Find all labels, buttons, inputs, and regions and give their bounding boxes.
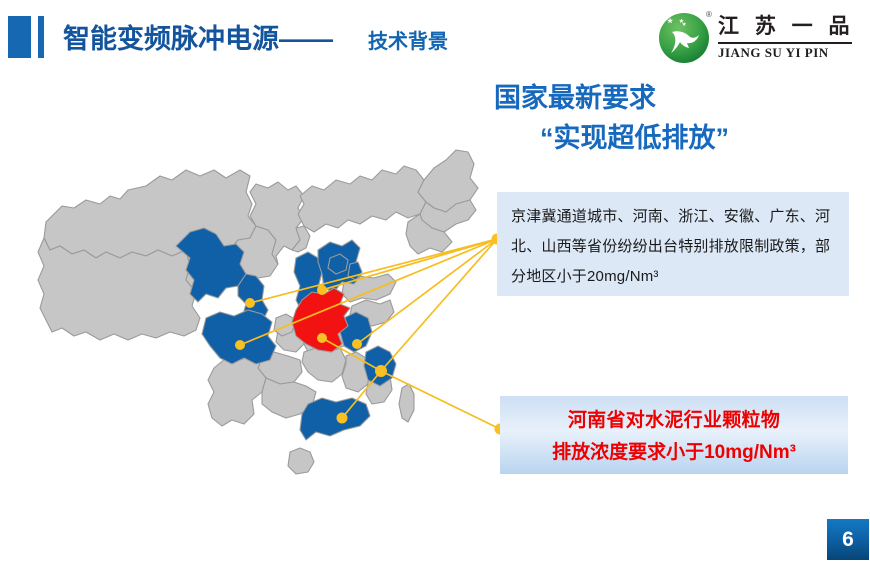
logo-name-en: JIANG SU YI PIN	[718, 45, 858, 60]
province-sichuan-highlight	[202, 310, 276, 364]
marker-henan[interactable]	[317, 333, 327, 343]
slide-header: 智能变频脉冲电源—— 技术背景 ® 江 苏 一 品	[0, 0, 870, 72]
headline-block: 国家最新要求 “实现超低排放”	[484, 78, 870, 158]
henan-callout-line-2: 排放浓度要求小于10mg/Nm³	[508, 437, 840, 469]
province-taiwan	[399, 384, 414, 422]
policy-note-text: 京津冀通道城市、河南、浙江、安徽、广东、河北、山西等省份纷纷出台特别排放限制政策…	[511, 202, 835, 292]
page-number-badge: 6	[827, 519, 869, 560]
henan-callout-box: 河南省对水泥行业颗粒物 排放浓度要求小于10mg/Nm³	[500, 396, 848, 474]
headline-line-2: “实现超低排放”	[484, 118, 870, 158]
registered-mark: ®	[706, 10, 712, 19]
marker-shanxi-shaanxi[interactable]	[245, 298, 255, 308]
marker-hebei-beijing[interactable]	[317, 285, 327, 295]
henan-callout-line-1: 河南省对水泥行业颗粒物	[508, 405, 840, 437]
province-yunnan	[208, 356, 266, 426]
marker-anhui[interactable]	[352, 339, 362, 349]
page-title: 智能变频脉冲电源——	[63, 20, 333, 58]
logo-divider	[718, 42, 852, 44]
province-guangdong-highlight	[300, 398, 370, 440]
province-inner-mongolia-east	[298, 166, 426, 232]
headline-line-1: 国家最新要求	[484, 78, 870, 118]
logo-swallow-icon	[658, 12, 710, 64]
province-hunan	[302, 348, 346, 382]
policy-note-box: 京津冀通道城市、河南、浙江、安徽、广东、河北、山西等省份纷纷出台特别排放限制政策…	[497, 192, 849, 296]
header-accent-bar-thick	[8, 16, 31, 58]
page-subtitle: 技术背景	[368, 28, 448, 56]
province-xinjiang	[44, 170, 256, 258]
slide-root: 智能变频脉冲电源—— 技术背景 ® 江 苏 一 品	[0, 0, 870, 565]
marker-zhejiang[interactable]	[375, 365, 387, 377]
logo-name-cn: 江 苏 一 品	[718, 14, 858, 40]
connector-hub1-zhejiang	[381, 239, 497, 371]
company-logo: ® 江 苏 一 品 JIANG SU YI PIN	[658, 10, 858, 68]
china-map	[0, 140, 520, 530]
header-accent-bar-thin	[38, 16, 44, 58]
logo-wordmark: 江 苏 一 品 JIANG SU YI PIN	[718, 14, 858, 60]
marker-guangdong[interactable]	[337, 413, 348, 424]
marker-sichuan[interactable]	[235, 340, 245, 350]
connector-hub2-zhejiang	[381, 371, 500, 429]
province-hainan	[288, 448, 314, 474]
china-map-svg	[0, 140, 520, 530]
